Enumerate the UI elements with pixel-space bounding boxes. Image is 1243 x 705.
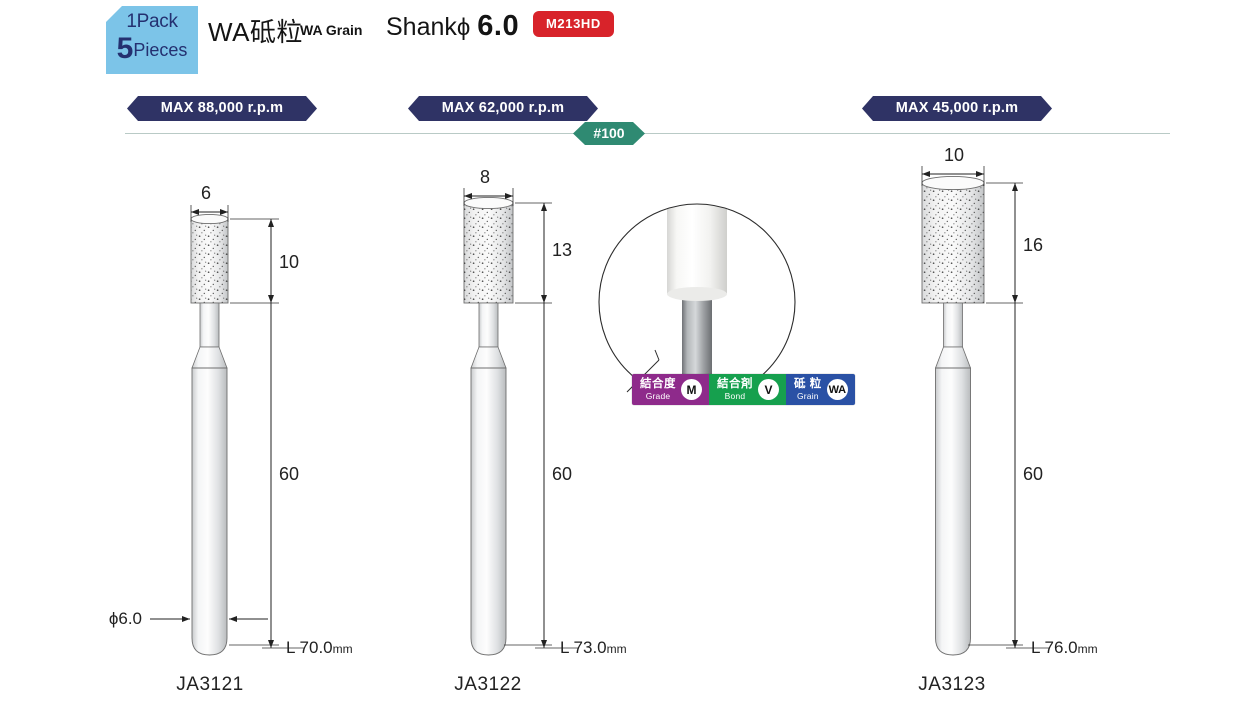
product-drawing-1: 6 10 60 ϕ6.0 L 70.0mm JA3121: [0, 0, 400, 705]
head-height-label-3: 16: [1023, 235, 1043, 256]
legend-grain-en: Grain: [797, 392, 819, 401]
catalog-page: 1Pack 5Pieces WA砥粒 WA Grain Shankϕ 6.0 M…: [0, 0, 1243, 705]
total-length-unit-3: mm: [1078, 642, 1098, 656]
legend-grade-text: 結合度 Grade: [640, 379, 676, 401]
legend-bond-text: 結合剤 Bond: [717, 379, 753, 401]
model-number-2: JA3122: [388, 674, 588, 696]
head-diameter-label-2: 8: [480, 167, 490, 188]
total-length-value-2: L 73.0: [560, 638, 607, 657]
shank-diameter-label-1: ϕ6.0: [109, 609, 142, 629]
legend-bond-jp: 結合剤: [717, 379, 753, 391]
total-length-unit-2: mm: [607, 642, 627, 656]
shank-length-label-1: 60: [279, 464, 299, 485]
legend-segment-grade: 結合度 Grade M: [632, 374, 709, 405]
head-height-label-1: 10: [279, 252, 299, 273]
total-length-unit-1: mm: [333, 642, 353, 656]
legend-bond-value: V: [758, 379, 779, 400]
total-length-label-2: L 73.0mm: [560, 638, 627, 658]
legend-segment-grain: 砥 粒 Grain WA: [786, 374, 855, 405]
legend-segment-bond: 結合剤 Bond V: [709, 374, 786, 405]
total-length-label-1: L 70.0mm: [286, 638, 353, 658]
magnified-detail-inset: [597, 202, 797, 402]
shank-length-label-2: 60: [552, 464, 572, 485]
head-height-label-2: 13: [552, 240, 572, 261]
total-length-value-1: L 70.0: [286, 638, 333, 657]
legend-grain-jp: 砥 粒: [794, 379, 822, 391]
total-length-value-3: L 76.0: [1031, 638, 1078, 657]
legend-grade-jp: 結合度: [640, 379, 676, 391]
legend-grade-value: M: [681, 379, 702, 400]
product-3-svg: [860, 0, 1243, 705]
shank-length-label-3: 60: [1023, 464, 1043, 485]
specification-legend: 結合度 Grade M 結合剤 Bond V 砥 粒 Grain WA: [632, 374, 855, 405]
model-number-1: JA3121: [110, 674, 310, 696]
grinding-head-1: [191, 214, 228, 303]
product-1-svg: [0, 0, 400, 705]
legend-grain-value: WA: [827, 379, 848, 400]
legend-bond-en: Bond: [725, 392, 746, 401]
product-drawing-2: 8 13 60 L 73.0mm JA3122: [400, 0, 630, 705]
grinding-head-2: [464, 197, 513, 303]
grinding-head-3: [922, 176, 984, 303]
legend-grade-en: Grade: [646, 392, 671, 401]
head-diameter-label-3: 10: [944, 145, 964, 166]
total-length-label-3: L 76.0mm: [1031, 638, 1098, 658]
product-drawing-3: 10 16 60 L 76.0mm JA3123: [860, 0, 1243, 705]
model-number-3: JA3123: [852, 674, 1052, 696]
product-2-svg: [400, 0, 630, 705]
legend-grain-text: 砥 粒 Grain: [794, 379, 822, 401]
head-diameter-label-1: 6: [201, 183, 211, 204]
